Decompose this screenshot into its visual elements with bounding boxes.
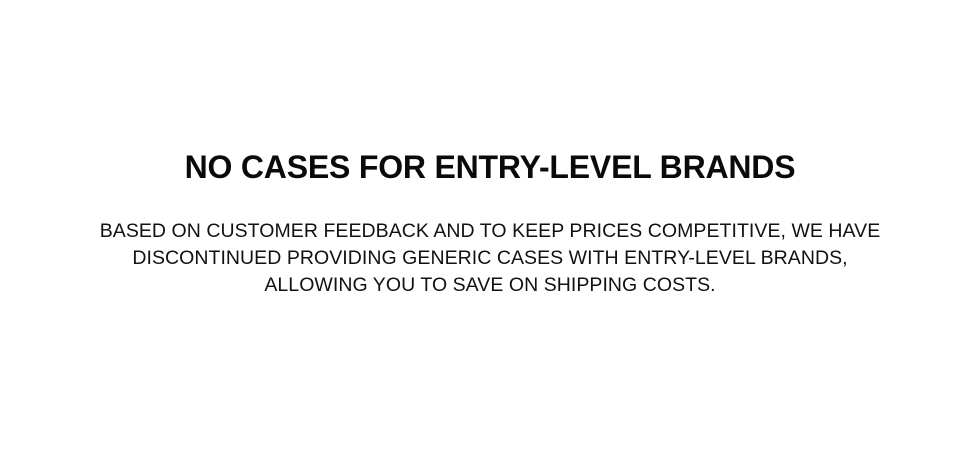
promo-description: BASED ON CUSTOMER FEEDBACK AND TO KEEP P… xyxy=(95,186,885,299)
page-title: NO CASES FOR ENTRY-LEVEL BRANDS xyxy=(90,148,890,186)
promo-banner: NO CASES FOR ENTRY-LEVEL BRANDS BASED ON… xyxy=(0,0,980,450)
promo-content: NO CASES FOR ENTRY-LEVEL BRANDS BASED ON… xyxy=(90,0,890,299)
